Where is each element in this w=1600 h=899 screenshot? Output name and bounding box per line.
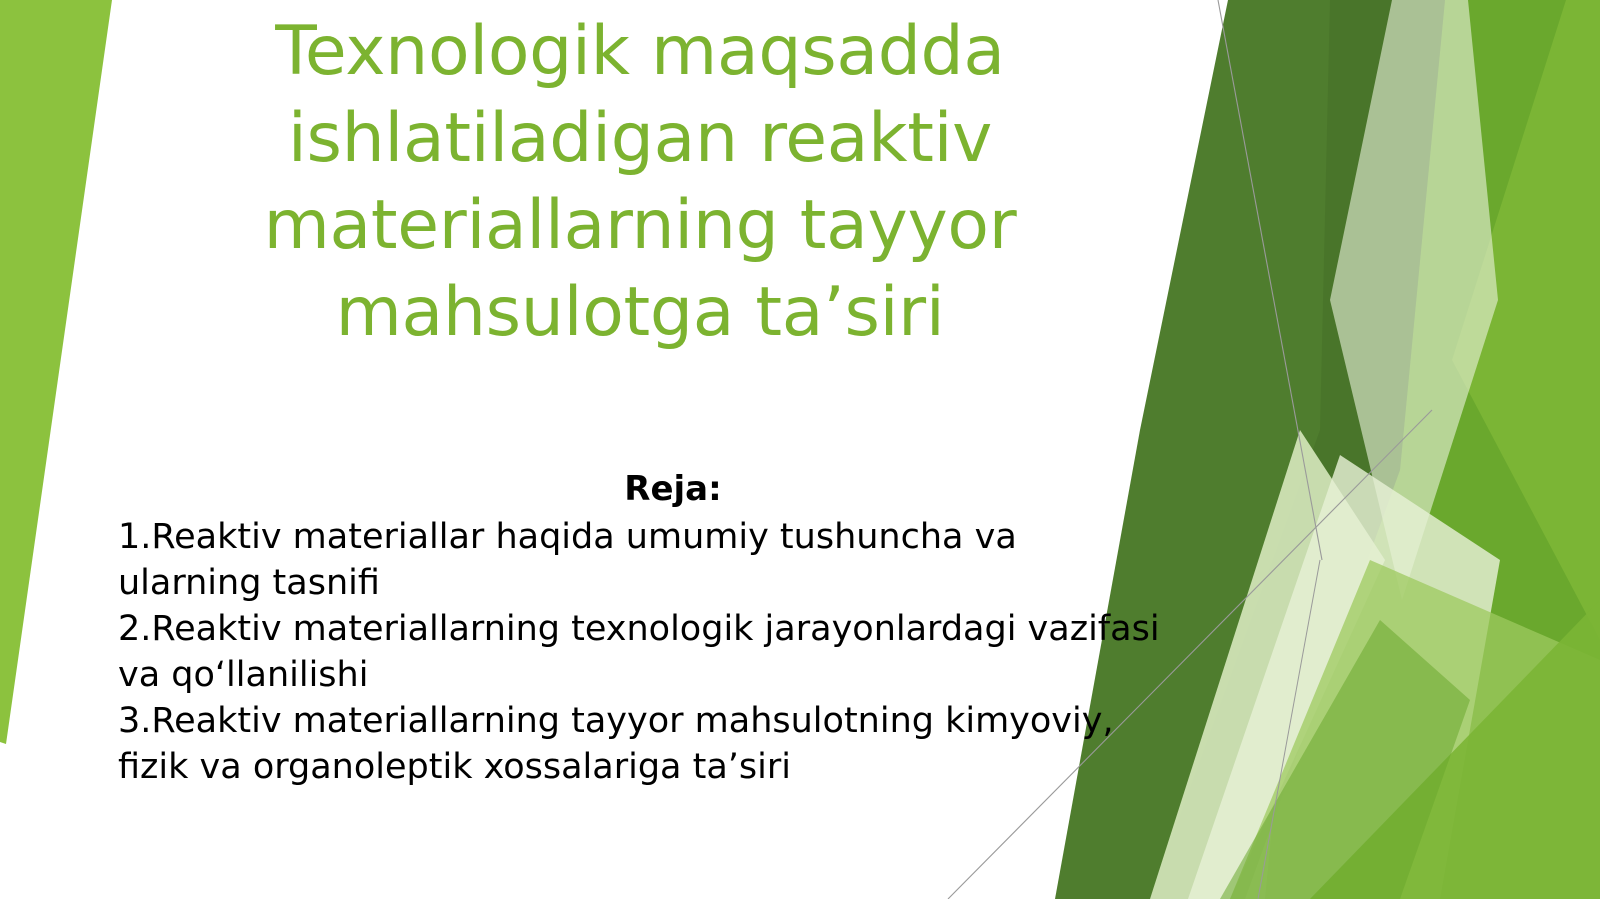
presentation-slide: Texnologik maqsadda ishlatiladigan reakt… [0, 0, 1600, 899]
body-line-3: 2.Reaktiv materiallarning texnologik jar… [118, 606, 1228, 652]
body-line-1: 1.Reaktiv materiallar haqida umumiy tush… [118, 514, 1228, 560]
body-line-2: ularning tasnifi [118, 560, 1228, 606]
title-line-1: Texnologik maqsadda [180, 8, 1100, 95]
body-line-4: va qo‘llanilishi [118, 652, 1228, 698]
title-line-2: ishlatiladigan reaktiv [180, 95, 1100, 182]
body-heading: Reja: [118, 466, 1228, 512]
body-line-5: 3.Reaktiv materiallarning tayyor mahsulo… [118, 698, 1228, 744]
slide-content: Texnologik maqsadda ishlatiladigan reakt… [0, 0, 1600, 899]
body-line-6: fizik va organoleptik xossalariga ta’sir… [118, 744, 1228, 790]
title-line-3: materiallarning tayyor [180, 182, 1100, 269]
slide-body: Reja: 1.Reaktiv materiallar haqida umumi… [118, 466, 1228, 790]
title-line-4: mahsulotga ta’siri [180, 269, 1100, 356]
slide-title: Texnologik maqsadda ishlatiladigan reakt… [180, 8, 1100, 356]
